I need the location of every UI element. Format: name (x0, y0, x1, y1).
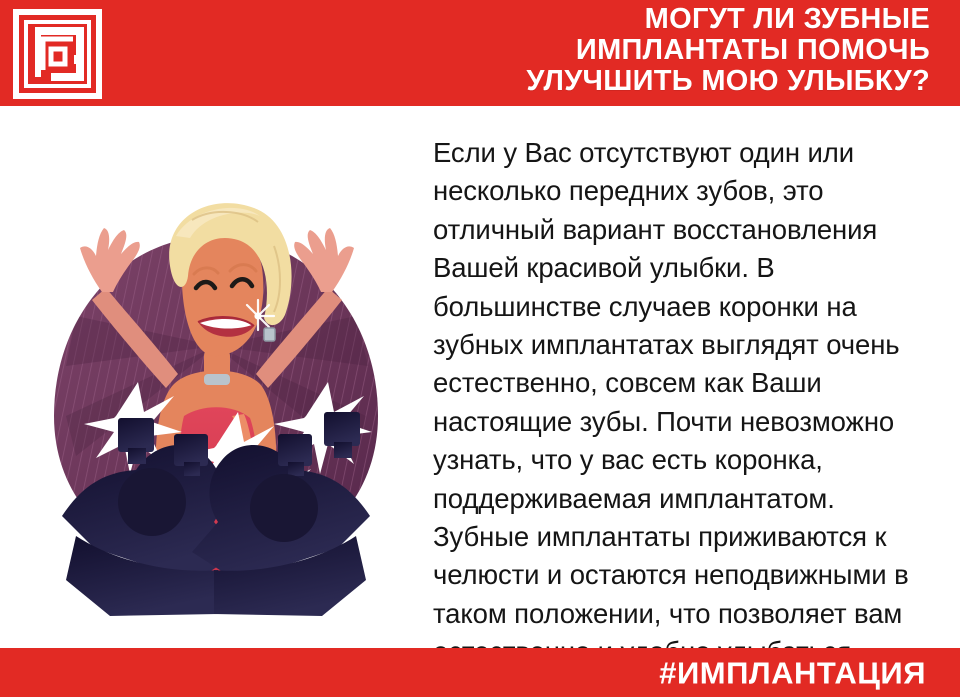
header-bar: МОГУТ ЛИ ЗУБНЫЕ ИМПЛАНТАТЫ ПОМОЧЬ УЛУЧШИ… (0, 0, 960, 106)
lg-spiral-monogram-icon (13, 9, 102, 99)
footer-bar: #ИМПЛАНТАЦИЯ (0, 648, 960, 697)
hashtag-label[interactable]: #ИМПЛАНТАЦИЯ (659, 657, 926, 688)
article-body-text: Если у Вас отсутствуют один или нескольк… (433, 134, 933, 672)
page-title: МОГУТ ЛИ ЗУБНЫЕ ИМПЛАНТАТЫ ПОМОЧЬ УЛУЧШИ… (250, 4, 930, 97)
hero-illustration (6, 116, 426, 636)
main-content: Если у Вас отсутствуют один или нескольк… (0, 106, 960, 648)
brand-logo[interactable] (13, 9, 102, 99)
smiling-woman-paparazzi-illustration-icon (6, 116, 426, 636)
poster-root: МОГУТ ЛИ ЗУБНЫЕ ИМПЛАНТАТЫ ПОМОЧЬ УЛУЧШИ… (0, 0, 960, 697)
